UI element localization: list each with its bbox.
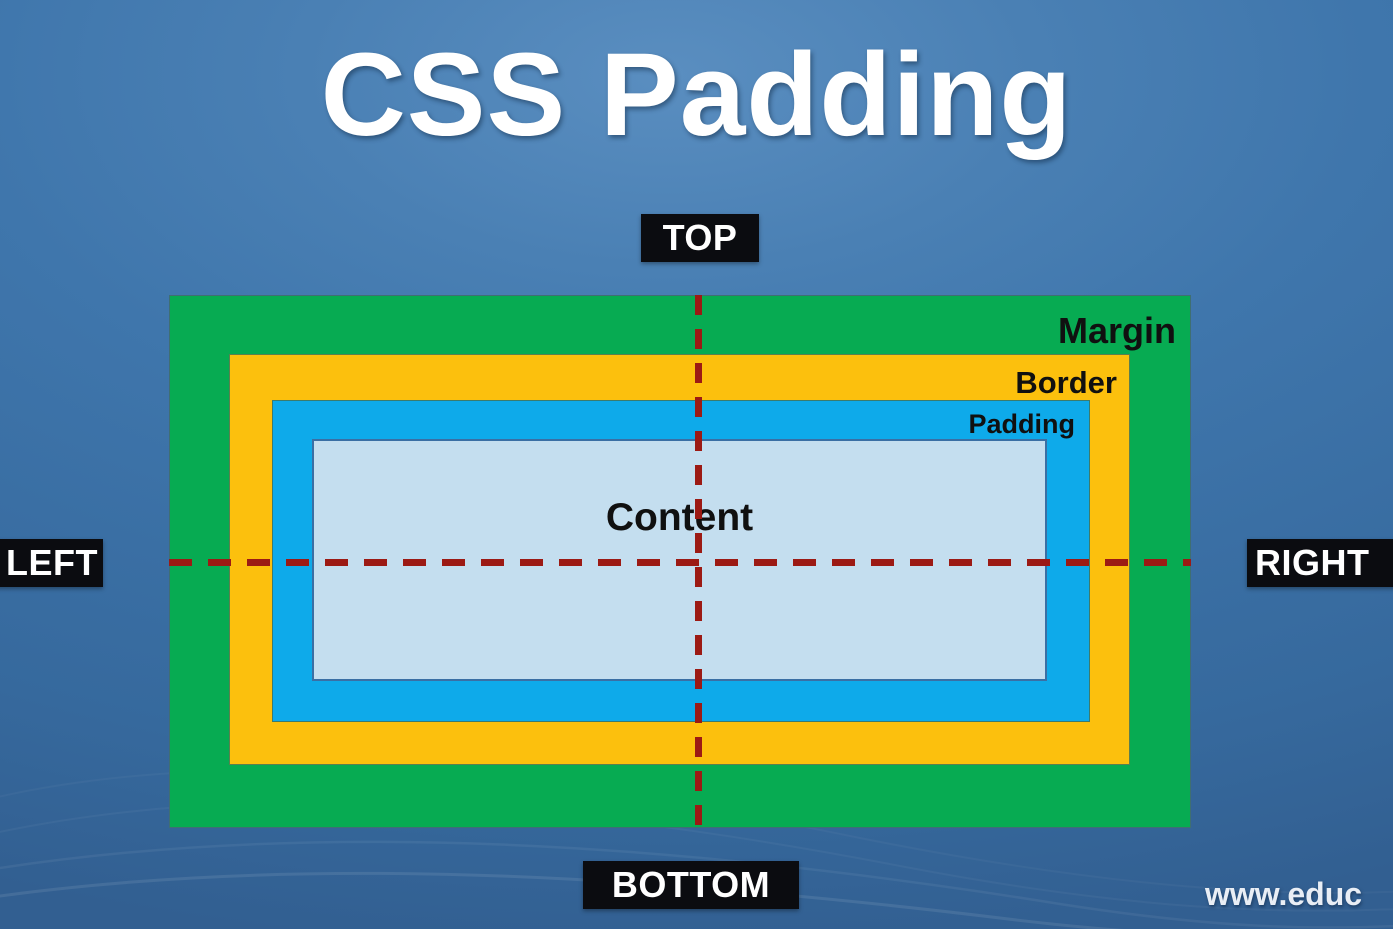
direction-label-left: LEFT (0, 539, 103, 587)
direction-label-bottom: BOTTOM (583, 861, 799, 909)
direction-label-right: RIGHT (1247, 539, 1393, 587)
margin-label: Margin (1058, 310, 1176, 352)
border-label: Border (1015, 365, 1117, 401)
direction-label-top: TOP (641, 214, 759, 262)
content-label: Content (314, 496, 1045, 540)
watermark-text: www.educ (1205, 876, 1362, 913)
page-title: CSS Padding (0, 34, 1393, 158)
horizontal-dashed-axis (169, 559, 1191, 566)
diagram-canvas: CSS Padding TOP BOTTOM LEFT RIGHT Margin… (0, 0, 1393, 929)
padding-label: Padding (969, 409, 1076, 440)
